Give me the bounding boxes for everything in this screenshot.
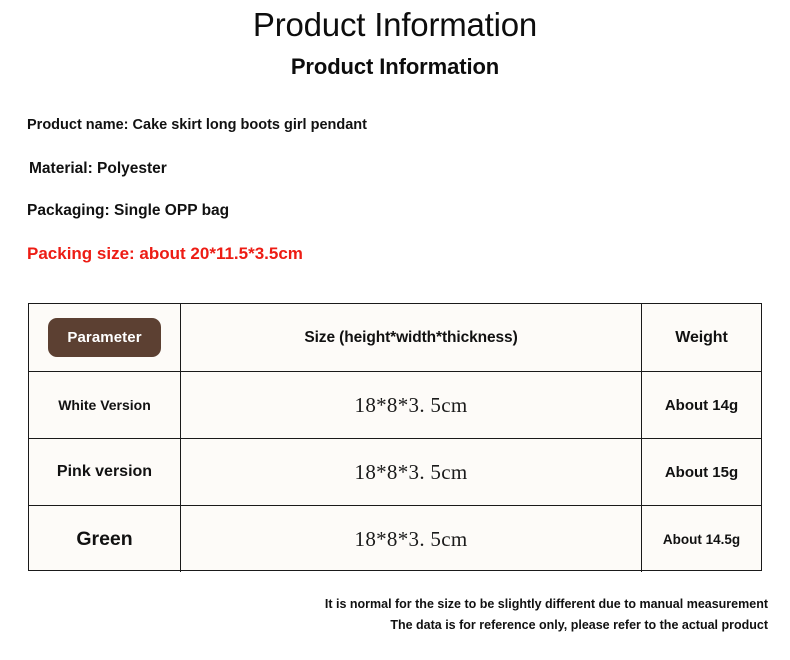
cell-parameter: Green [29, 506, 180, 572]
cell-weight: About 14g [641, 372, 761, 438]
page-title: Product Information [0, 6, 790, 44]
footnote-line-2: The data is for reference only, please r… [128, 615, 768, 636]
cell-weight: About 15g [641, 439, 761, 505]
header-cell-parameter: Parameter [29, 304, 180, 371]
header-cell-size: Size (height*width*thickness) [180, 304, 641, 371]
table-row: Pink version 18*8*3. 5cm About 15g [29, 438, 761, 505]
spec-packing-size: Packing size: about 20*11.5*3.5cm [27, 244, 303, 264]
footnote-line-1: It is normal for the size to be slightly… [128, 594, 768, 615]
cell-size: 18*8*3. 5cm [180, 372, 641, 438]
cell-size: 18*8*3. 5cm [180, 439, 641, 505]
spec-packaging: Packaging: Single OPP bag [27, 201, 229, 221]
cell-parameter: Pink version [29, 439, 180, 505]
table-header-row: Parameter Size (height*width*thickness) … [29, 304, 761, 371]
table-row: Green 18*8*3. 5cm About 14.5g [29, 505, 761, 572]
page-subtitle: Product Information [0, 53, 790, 81]
spec-material: Material: Polyester [29, 159, 167, 179]
table-row: White Version 18*8*3. 5cm About 14g [29, 371, 761, 438]
parameter-badge: Parameter [48, 318, 160, 357]
cell-weight: About 14.5g [641, 506, 761, 572]
footnotes: It is normal for the size to be slightly… [128, 594, 768, 636]
cell-parameter: White Version [29, 372, 180, 438]
cell-size: 18*8*3. 5cm [180, 506, 641, 572]
header-cell-weight: Weight [641, 304, 761, 371]
product-spec-table: Parameter Size (height*width*thickness) … [28, 303, 762, 571]
spec-product-name: Product name: Cake skirt long boots girl… [27, 115, 367, 135]
